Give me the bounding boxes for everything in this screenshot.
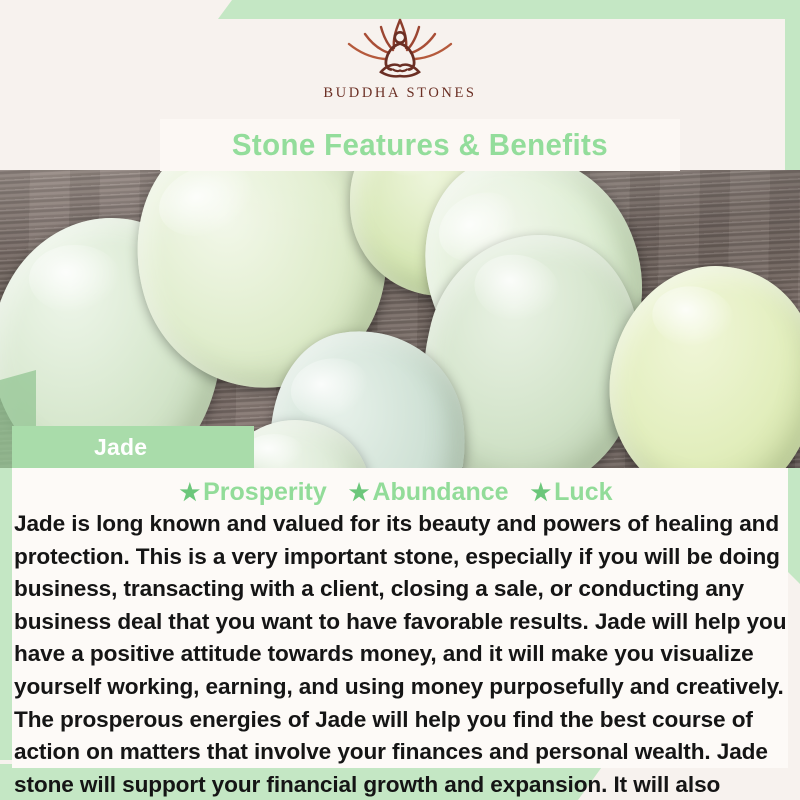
lotus-meditation-icon — [325, 14, 475, 82]
stone-description: Jade is long known and valued for its be… — [14, 508, 788, 800]
brand-name: BUDDHA STONES — [323, 85, 476, 102]
title-banner: Stone Features & Benefits — [160, 119, 680, 171]
jade-stones-photo — [0, 170, 800, 468]
benefits-row: ★Prosperity★Abundance★Luck — [12, 478, 788, 507]
star-icon: ★ — [349, 479, 370, 505]
benefit-label-luck: Luck — [554, 478, 612, 506]
star-icon: ★ — [531, 479, 552, 505]
stone-name-badge: Jade — [12, 426, 254, 468]
benefit-label-prosperity: Prosperity — [203, 478, 327, 506]
page-title: Stone Features & Benefits — [232, 127, 608, 163]
stone-description-text: Jade is long known and valued for its be… — [14, 508, 788, 800]
stone-name: Jade — [94, 434, 147, 461]
brand-header: BUDDHA STONES — [0, 0, 800, 120]
star-icon: ★ — [179, 479, 200, 505]
infographic-page: BUDDHA STONES Stone Features & Benefits … — [0, 0, 800, 800]
benefit-label-abundance: Abundance — [372, 478, 508, 506]
photo-overlay — [0, 170, 800, 468]
